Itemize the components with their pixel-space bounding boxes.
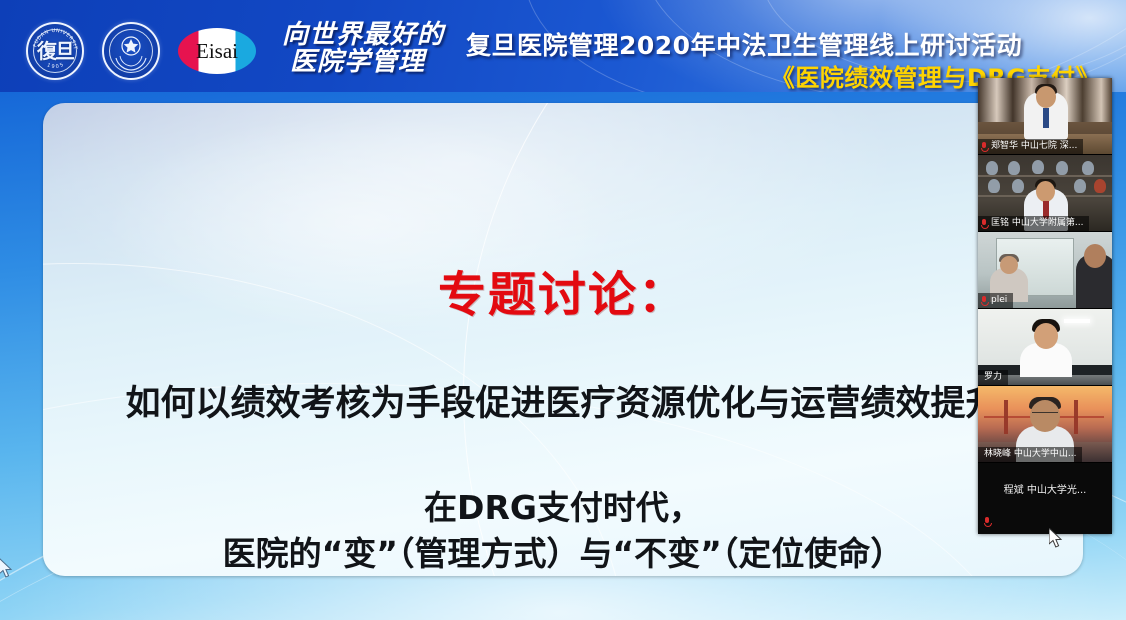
participant-name-label: 罗力	[978, 370, 1008, 385]
participant-name-label: 郑智华 中山七院 深...	[978, 139, 1083, 154]
participant-name-label: 程斌 中山大学光...	[978, 481, 1112, 496]
tile-person-head	[1000, 256, 1018, 274]
participant-tile[interactable]: plei	[978, 232, 1112, 309]
tile-decor-object	[1056, 161, 1068, 175]
participant-name-label: 林晓峰 中山大学中山...	[978, 447, 1082, 462]
tile-decor-object	[986, 161, 998, 175]
participant-tile[interactable]: 罗力	[978, 309, 1112, 386]
tile-person-head	[1036, 86, 1056, 108]
presentation-slide: 专题讨论： 如何以绩效考核为手段促进医疗资源优化与运营绩效提升 在DRG支付时代…	[43, 103, 1083, 576]
seal-wreath	[104, 24, 158, 78]
participant-name-label: 匡铭 中山大学附属第...	[978, 216, 1089, 231]
tile-shelf	[978, 175, 1112, 177]
fudan-university-seal-icon: FUDAN UNIVERSITY 1905 復旦	[26, 22, 84, 80]
presentation-screen: FUDAN UNIVERSITY 1905 復旦 Eisai	[0, 0, 1126, 620]
tile-bridge-tower	[1004, 400, 1008, 434]
mic-muted-icon	[984, 517, 991, 527]
sponsor-logo-row: FUDAN UNIVERSITY 1905 復旦 Eisai	[26, 22, 256, 80]
tile-decor-object	[1032, 160, 1044, 174]
svg-text:FUDAN UNIVERSITY: FUDAN UNIVERSITY	[28, 24, 78, 51]
tile-person-head	[1084, 244, 1106, 268]
banner-slogan: 向世界最好的 医院学管理	[282, 22, 444, 77]
tile-decor-object	[1082, 161, 1094, 175]
tile-ceiling-light	[1064, 319, 1090, 323]
participant-video-panel[interactable]: 郑智华 中山七院 深... 匡铭 中山大学附属第...	[978, 78, 1112, 534]
eisai-logo-icon: Eisai	[178, 28, 256, 74]
banner-slogan-line1: 向世界最好的	[282, 20, 444, 50]
eisai-wordmark: Eisai	[196, 39, 238, 64]
slide-body-line-1: 如何以绩效考核为手段促进医疗资源优化与运营绩效提升	[43, 375, 1083, 426]
tile-decor-object	[1012, 179, 1024, 193]
participant-tile-camera-off[interactable]: 程斌 中山大学光...	[978, 463, 1112, 533]
slide-body-line-2: 在DRG支付时代，	[43, 481, 1083, 529]
mic-muted-icon	[981, 219, 988, 229]
tile-person-head	[1034, 323, 1058, 349]
tile-decor-object	[1008, 161, 1020, 175]
tile-person-head	[1036, 181, 1055, 202]
tile-person-tie	[1043, 108, 1049, 128]
event-banner: FUDAN UNIVERSITY 1905 復旦 Eisai	[0, 0, 1126, 92]
svg-text:1905: 1905	[46, 61, 66, 70]
participant-tile[interactable]: 匡铭 中山大学附属第...	[978, 155, 1112, 232]
tile-bridge-tower	[1074, 400, 1078, 434]
tile-decor-object	[988, 179, 1000, 193]
mic-muted-icon	[981, 142, 988, 152]
seal-ring-text: FUDAN UNIVERSITY 1905	[28, 24, 82, 78]
participant-tile[interactable]: 郑智华 中山七院 深...	[978, 78, 1112, 155]
banner-slogan-line2: 医院学管理	[282, 49, 444, 76]
mic-muted-icon	[981, 296, 988, 306]
participant-tile[interactable]: 林晓峰 中山大学中山...	[978, 386, 1112, 463]
slide-body-line-3: 医院的“变”（管理方式）与“不变”（定位使命）	[43, 527, 1083, 575]
tile-person-glasses	[1032, 412, 1058, 419]
hospital-association-seal-icon	[102, 22, 160, 80]
event-title: 复旦医院管理2020年中法卫生管理线上研讨活动	[466, 26, 1022, 62]
tile-decor-object	[1094, 179, 1106, 193]
tile-decor-object	[1074, 179, 1086, 193]
slide-heading: 专题讨论：	[43, 271, 1083, 319]
